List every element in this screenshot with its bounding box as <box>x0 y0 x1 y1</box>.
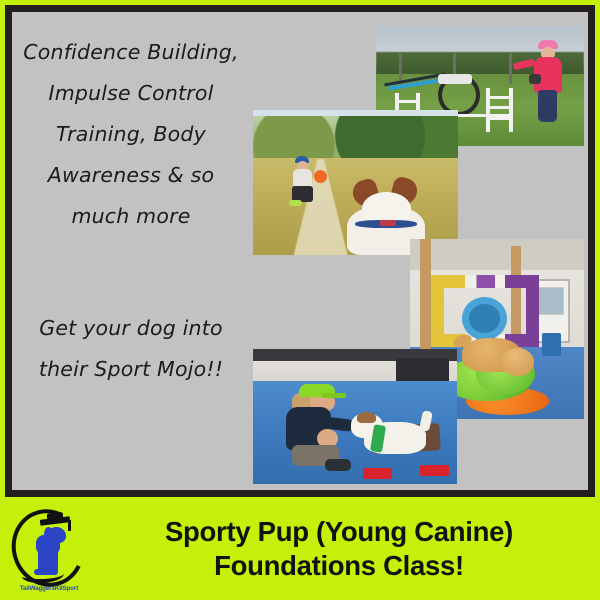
ladder-rung <box>486 117 511 120</box>
bottom-banner: TailWaggersK9Sport Sporty Pup (Young Can… <box>0 497 600 600</box>
handler-legs <box>538 90 557 122</box>
terrier-dog <box>355 408 449 470</box>
red-balance-block <box>420 465 449 476</box>
photo-mat-training <box>253 349 457 484</box>
poster-root: Confidence Building, Impulse Control Tra… <box>0 0 600 600</box>
puppy-head <box>502 348 534 376</box>
handler-figure <box>529 40 569 114</box>
handler-shoe <box>325 459 351 471</box>
fence-post-icon <box>509 52 512 83</box>
logo-caption: TailWaggersK9Sport <box>6 585 92 592</box>
trail-recall-scene <box>253 110 458 255</box>
graduation-tassel-icon <box>68 520 71 531</box>
fence-post-icon <box>399 52 402 83</box>
doodle-puppy <box>462 329 535 376</box>
red-balance-block <box>363 468 392 479</box>
collage-canvas: Confidence Building, Impulse Control Tra… <box>12 12 588 490</box>
door-window <box>538 287 564 315</box>
tire-jump-tape <box>438 74 472 84</box>
dog-tag-icon <box>380 220 396 226</box>
mat-training-scene <box>253 349 457 484</box>
tailwaggers-logo: TailWaggersK9Sport <box>6 505 92 593</box>
subhead-text: Get your dog into their Sport Mojo!! <box>20 308 242 390</box>
class-title: Sporty Pup (Young Canine) Foundations Cl… <box>92 515 600 583</box>
headline-text: Confidence Building, Impulse Control Tra… <box>20 32 242 237</box>
poster-frame: Confidence Building, Impulse Control Tra… <box>5 5 595 497</box>
gym-ceiling <box>410 239 584 270</box>
logo-dog-head <box>48 527 66 543</box>
photo-trail-recall <box>253 110 458 255</box>
dog-ear-patch <box>357 412 376 423</box>
ladder-rung <box>395 100 418 103</box>
ladder-rung <box>486 106 511 109</box>
crouching-person <box>288 156 322 208</box>
storage-bin <box>542 333 561 356</box>
treat-bag-icon <box>529 74 541 84</box>
ladder-rung <box>486 96 511 99</box>
cap-brim <box>322 393 346 398</box>
person-shoe <box>289 200 302 206</box>
seated-handler <box>277 384 359 473</box>
